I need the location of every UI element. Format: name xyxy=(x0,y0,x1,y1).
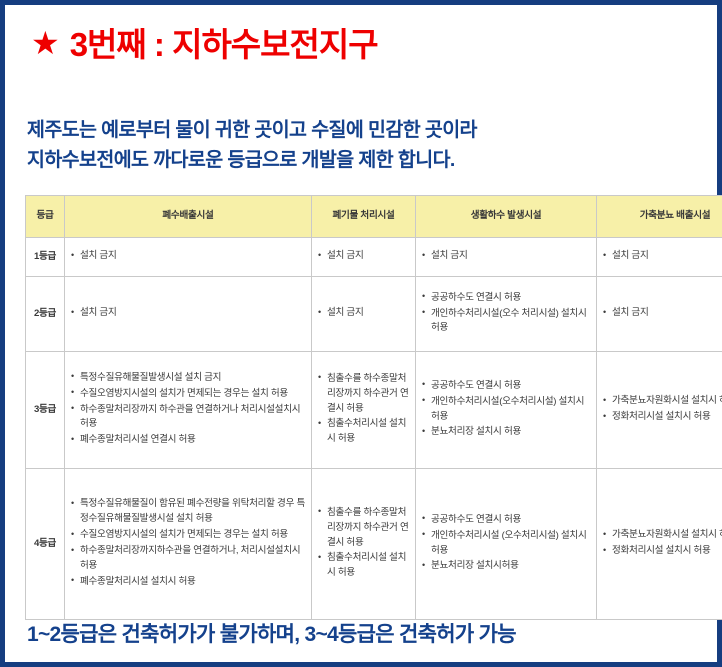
list-item: 공공하수도 연결시 허용 xyxy=(422,513,590,528)
cell-list: 공공하수도 연결시 허용개인하수처리시설(오수처리시설) 설치시 허용분뇨처리장… xyxy=(422,379,590,440)
header-cell-waste: 폐기물 처리시설 xyxy=(312,196,416,238)
cell-livestock: 설치 금지 xyxy=(597,277,722,352)
cell-list: 설치 금지 xyxy=(603,249,722,264)
cell-sewage: 공공하수도 연결시 허용개인하수처리시설 (오수처리시설) 설치시 허용분뇨처리… xyxy=(416,469,597,620)
table-row: 4등급 특정수질유해물질이 함유된 폐수전량을 위탁처리할 경우 특정수질유해물… xyxy=(26,469,722,620)
list-item: 침출수처리시설 설치시 허용 xyxy=(318,551,409,581)
cell-waste: 침출수를 하수종말처리장까지 하수관거 연결시 허용침출수처리시설 설치시 허용 xyxy=(312,352,416,469)
list-item: 설치 금지 xyxy=(71,249,305,264)
list-item: 가축분뇨자원화시설 설치시 허용 xyxy=(603,528,722,543)
cell-list: 침출수를 하수종말처리장까지 하수관거 연결시 허용침출수처리시설 설치시 허용 xyxy=(318,506,409,581)
cell-waste: 침출수를 하수종말처리장까지 하수관거 연결시 허용침출수처리시설 설치시 허용 xyxy=(312,469,416,620)
list-item: 침출수를 하수종말처리장까지 하수관거 연결시 허용 xyxy=(318,506,409,551)
list-item: 분뇨처리장 설치시허용 xyxy=(422,559,590,574)
list-item: 침출수처리시설 설치시 허용 xyxy=(318,417,409,447)
list-item: 설치 금지 xyxy=(422,249,590,264)
cell-sewage: 공공하수도 연결시 허용개인하수처리시설(오수처리시설) 설치시 허용분뇨처리장… xyxy=(416,352,597,469)
cell-list: 가축분뇨자원화시설 설치시 허용정화처리시설 설치시 허용 xyxy=(603,528,722,559)
header-cell-wastewater: 폐수배출시설 xyxy=(65,196,312,238)
cell-sewage: 공공하수도 연결시 허용개인하수처리시설(오수 처리시설) 설치시 허용 xyxy=(416,277,597,352)
cell-wastewater: 특정수질유해물질이 함유된 폐수전량을 위탁처리할 경우 특정수질유해물질발생시… xyxy=(65,469,312,620)
list-item: 개인하수처리시설(오수처리시설) 설치시 허용 xyxy=(422,395,590,425)
cell-list: 특정수질유해물질이 함유된 폐수전량을 위탁처리할 경우 특정수질유해물질발생시… xyxy=(71,497,305,589)
table-header-row: 등급 폐수배출시설 폐기물 처리시설 생활하수 발생시설 가축분뇨 배출시설 xyxy=(26,196,722,238)
subtitle-text: 제주도는 예로부터 물이 귀한 곳이고 수질에 민감한 곳이라 지하수보전에도 … xyxy=(27,115,477,175)
list-item: 공공하수도 연결시 허용 xyxy=(422,291,590,306)
slide-frame: ★ 3번째 : 지하수보전지구 제주도는 예로부터 물이 귀한 곳이고 수질에 … xyxy=(0,0,722,667)
cell-grade: 4등급 xyxy=(26,469,65,620)
list-item: 폐수종말처리시설 설치시 허용 xyxy=(71,575,305,590)
list-item: 설치 금지 xyxy=(603,249,722,264)
list-item: 가축분뇨자원화시설 설치시 허용 xyxy=(603,394,722,409)
cell-list: 설치 금지 xyxy=(318,306,409,321)
list-item: 침출수를 하수종말처리장까지 하수관거 연결시 허용 xyxy=(318,372,409,417)
list-item: 정화처리시설 설치시 허용 xyxy=(603,544,722,559)
page-title-text: 3번째 : 지하수보전지구 xyxy=(70,27,378,63)
list-item: 설치 금지 xyxy=(318,306,409,321)
cell-grade: 3등급 xyxy=(26,352,65,469)
header-cell-livestock: 가축분뇨 배출시설 xyxy=(597,196,722,238)
cell-wastewater: 설치 금지 xyxy=(65,277,312,352)
list-item: 폐수종말처리시설 연결시 허용 xyxy=(71,433,305,448)
cell-list: 설치 금지 xyxy=(71,249,305,264)
list-item: 하수종말처리장까지 하수관을 연결하거나 처리시설설치시 허용 xyxy=(71,403,305,433)
cell-list: 공공하수도 연결시 허용개인하수처리시설 (오수처리시설) 설치시 허용분뇨처리… xyxy=(422,513,590,574)
cell-list: 침출수를 하수종말처리장까지 하수관거 연결시 허용침출수처리시설 설치시 허용 xyxy=(318,372,409,447)
list-item: 개인하수처리시설 (오수처리시설) 설치시 허용 xyxy=(422,529,590,559)
cell-grade: 1등급 xyxy=(26,238,65,277)
cell-list: 특정수질유해물질발생시설 설치 금지수질오염방지시설의 설치가 면제되는 경우는… xyxy=(71,371,305,448)
table-body: 1등급 설치 금지 설치 금지 설치 금지 설치 금지 2등급 설치 금지 설치… xyxy=(26,238,722,620)
list-item: 특정수질유해물질이 함유된 폐수전량을 위탁처리할 경우 특정수질유해물질발생시… xyxy=(71,497,305,527)
page-title: ★ 3번째 : 지하수보전지구 xyxy=(31,27,378,63)
table-row: 3등급 특정수질유해물질발생시설 설치 금지수질오염방지시설의 설치가 면제되는… xyxy=(26,352,722,469)
cell-list: 가축분뇨자원화시설 설치시 허용정화처리시설 설치시 허용 xyxy=(603,394,722,425)
header-cell-grade: 등급 xyxy=(26,196,65,238)
star-icon: ★ xyxy=(31,27,60,59)
list-item: 설치 금지 xyxy=(318,249,409,264)
header-cell-sewage: 생활하수 발생시설 xyxy=(416,196,597,238)
cell-wastewater: 설치 금지 xyxy=(65,238,312,277)
list-item: 설치 금지 xyxy=(603,306,722,321)
cell-livestock: 설치 금지 xyxy=(597,238,722,277)
list-item: 분뇨처리장 설치시 허용 xyxy=(422,425,590,440)
list-item: 특정수질유해물질발생시설 설치 금지 xyxy=(71,371,305,386)
cell-wastewater: 특정수질유해물질발생시설 설치 금지수질오염방지시설의 설치가 면제되는 경우는… xyxy=(65,352,312,469)
table-header: 등급 폐수배출시설 폐기물 처리시설 생활하수 발생시설 가축분뇨 배출시설 xyxy=(26,196,722,238)
cell-waste: 설치 금지 xyxy=(312,277,416,352)
list-item: 정화처리시설 설치시 허용 xyxy=(603,410,722,425)
grade-table-container: 등급 폐수배출시설 폐기물 처리시설 생활하수 발생시설 가축분뇨 배출시설 1… xyxy=(25,195,708,620)
cell-livestock: 가축분뇨자원화시설 설치시 허용정화처리시설 설치시 허용 xyxy=(597,352,722,469)
table-row: 2등급 설치 금지 설치 금지 공공하수도 연결시 허용개인하수처리시설(오수 … xyxy=(26,277,722,352)
cell-list: 설치 금지 xyxy=(318,249,409,264)
table-row: 1등급 설치 금지 설치 금지 설치 금지 설치 금지 xyxy=(26,238,722,277)
cell-livestock: 가축분뇨자원화시설 설치시 허용정화처리시설 설치시 허용 xyxy=(597,469,722,620)
footer-note: 1~2등급은 건축허가가 불가하며, 3~4등급은 건축허가 가능 xyxy=(27,618,516,648)
cell-sewage: 설치 금지 xyxy=(416,238,597,277)
cell-list: 설치 금지 xyxy=(603,306,722,321)
cell-list: 설치 금지 xyxy=(71,306,305,321)
list-item: 수질오염방지시설의 설치가 면제되는 경우는 설치 허용 xyxy=(71,528,305,543)
list-item: 개인하수처리시설(오수 처리시설) 설치시 허용 xyxy=(422,307,590,337)
list-item: 설치 금지 xyxy=(71,306,305,321)
cell-waste: 설치 금지 xyxy=(312,238,416,277)
list-item: 공공하수도 연결시 허용 xyxy=(422,379,590,394)
list-item: 수질오염방지시설의 설치가 면제되는 경우는 설치 허용 xyxy=(71,387,305,402)
cell-list: 설치 금지 xyxy=(422,249,590,264)
cell-list: 공공하수도 연결시 허용개인하수처리시설(오수 처리시설) 설치시 허용 xyxy=(422,291,590,337)
grade-table: 등급 폐수배출시설 폐기물 처리시설 생활하수 발생시설 가축분뇨 배출시설 1… xyxy=(25,195,722,620)
cell-grade: 2등급 xyxy=(26,277,65,352)
list-item: 하수종말처리장까지하수관을 연결하거나, 처리시설설치시 허용 xyxy=(71,544,305,574)
